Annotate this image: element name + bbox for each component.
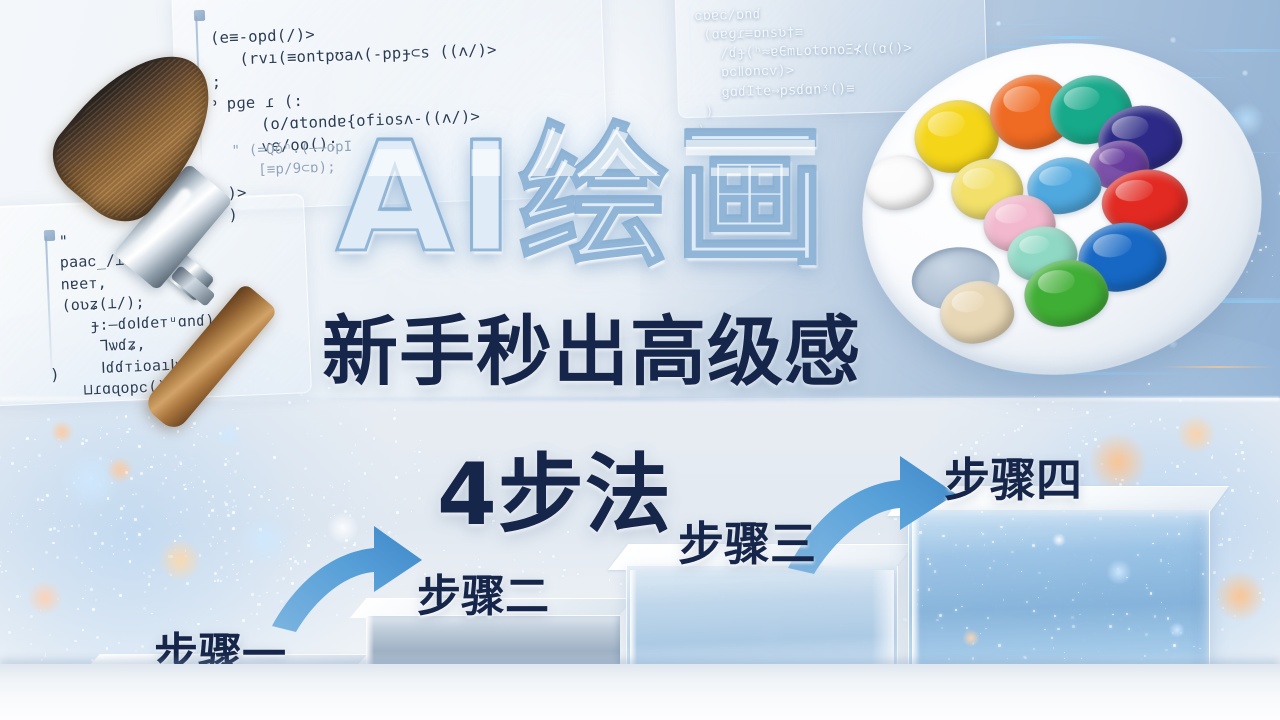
step-4-edge-light — [912, 514, 920, 680]
glass-title: AI绘画 — [336, 108, 896, 288]
step-label-3: 步骤三 — [678, 508, 816, 574]
panel-marker-a — [194, 10, 205, 21]
paintbrush — [58, 28, 358, 358]
step-label-2: 步骤二 — [417, 560, 549, 624]
panel-marker-b — [44, 230, 55, 241]
reflective-floor — [0, 664, 1280, 720]
step-4-front — [908, 510, 1210, 684]
step-4-sparkles — [909, 510, 1209, 683]
step-label-4: 步骤四 — [944, 444, 1082, 510]
poster-canvas: (e≡-opd(/)> (rvı(≡ontpʊaʌ(-ppɟ⊂s ((ʌ/)> … — [0, 0, 1280, 720]
glass-title-text: AI绘画 — [336, 109, 830, 286]
headline: 新手秒出高级感 — [322, 290, 861, 400]
